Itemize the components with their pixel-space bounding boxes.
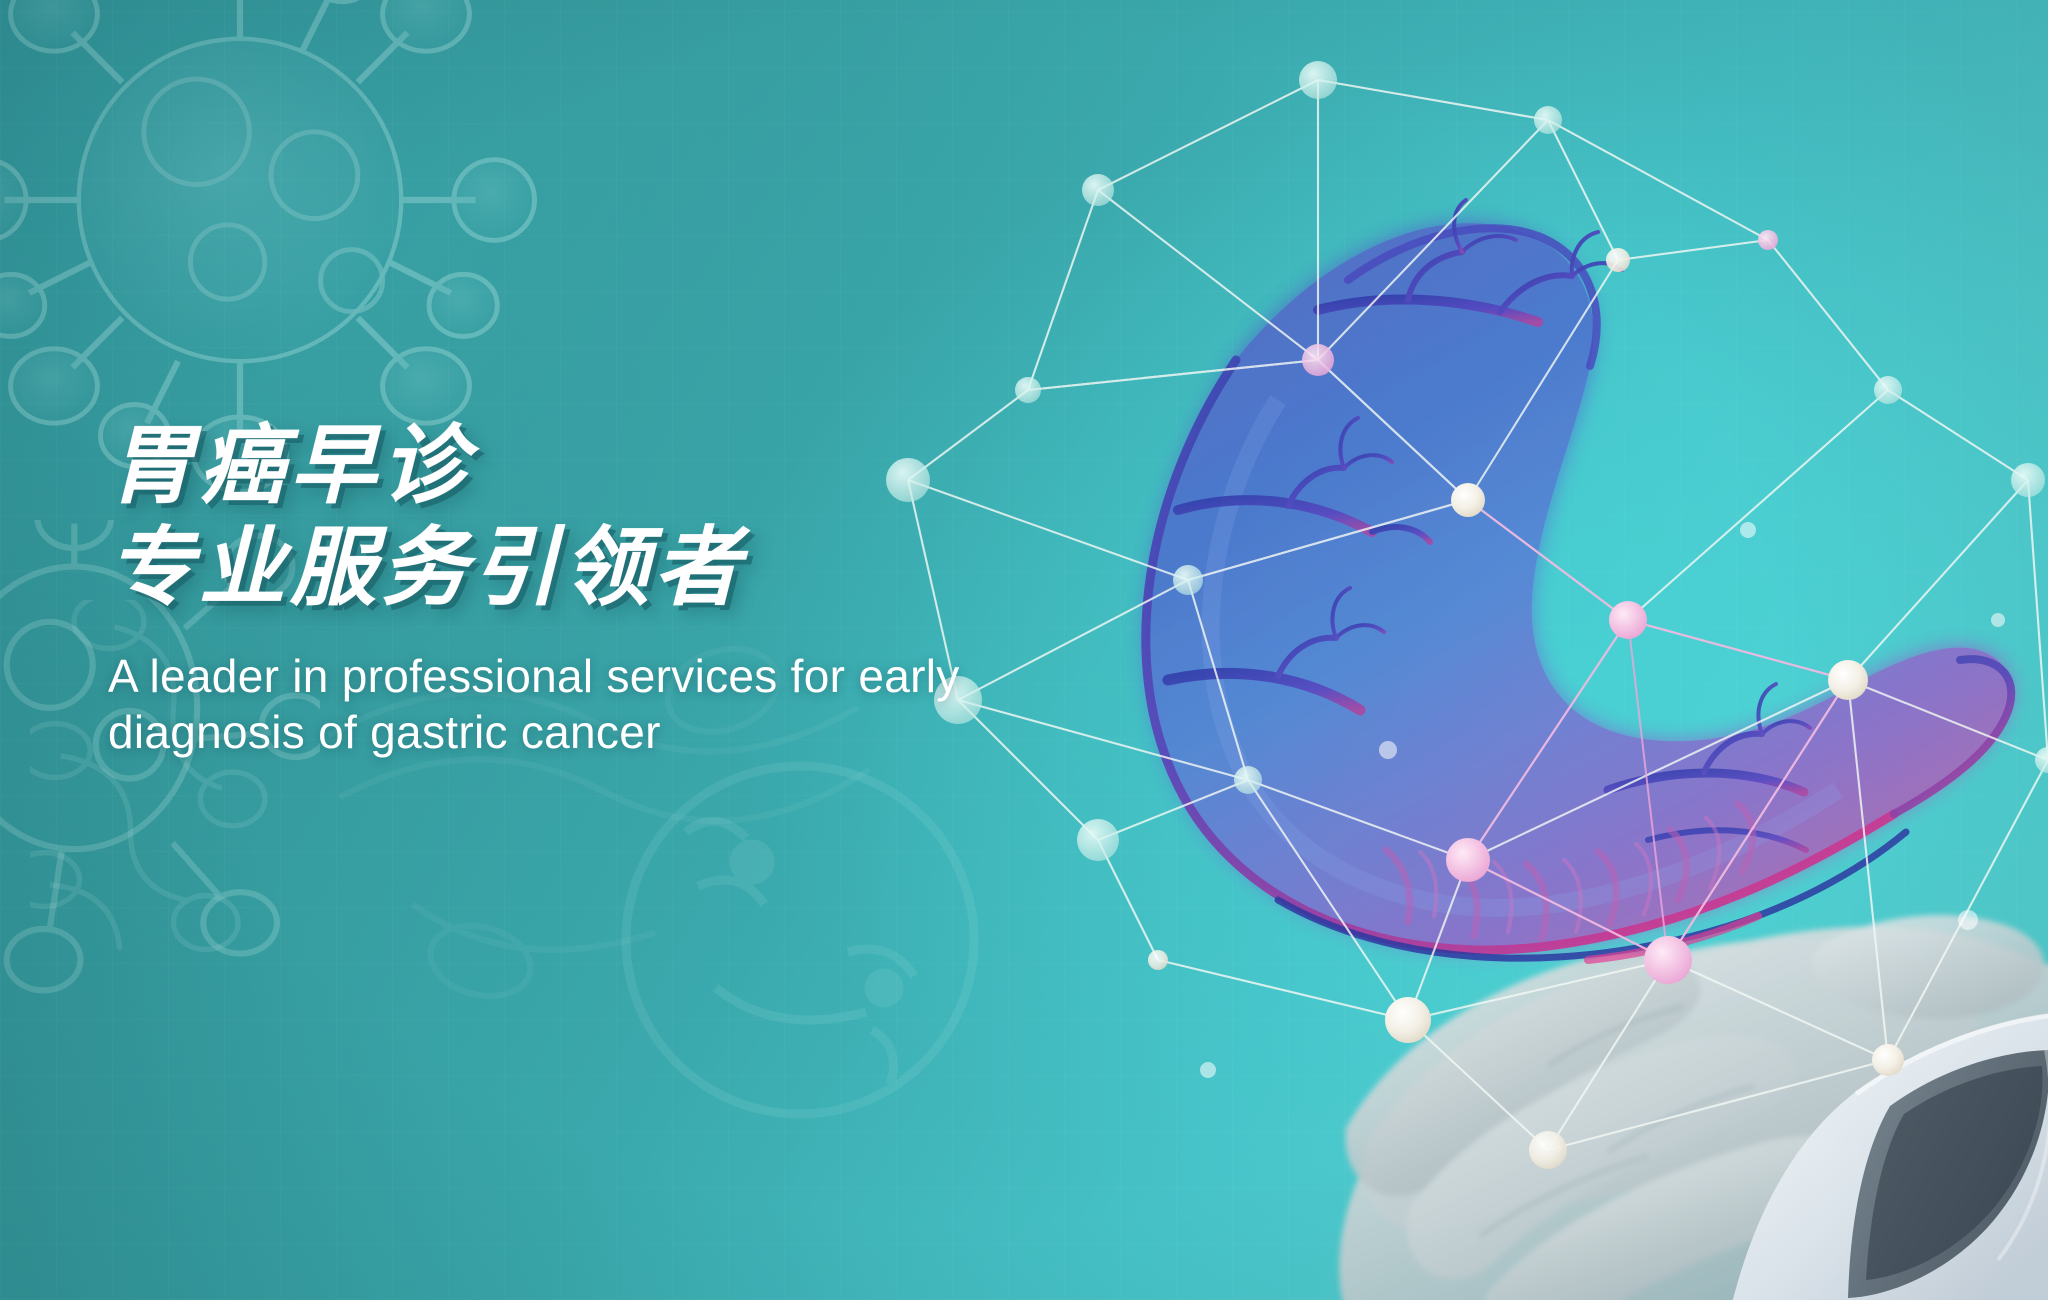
ring-finger-shape [1476, 1136, 1869, 1300]
forearm-shape [1339, 927, 2048, 1300]
index-finger-shape [1346, 952, 1701, 1196]
thumb-shape [1813, 915, 2044, 1019]
headline-line-1: 胃癌早诊 [108, 420, 1228, 512]
lab-coat-sleeve-cuff [1728, 1012, 2048, 1300]
subtitle: A leader in professional services for ea… [108, 648, 1118, 760]
subtitle-line-2: diagnosis of gastric cancer [108, 704, 1118, 760]
middle-finger-shape [1406, 1036, 1796, 1279]
subtitle-line-1: A leader in professional services for ea… [108, 648, 1118, 704]
headline-line-2: 专业服务引领者 [108, 522, 1228, 614]
hero-banner: 胃癌早诊 专业服务引领者 A leader in professional se… [0, 0, 2048, 1300]
virus-particle-icon [560, 700, 1040, 1180]
hero-text-block: 胃癌早诊 专业服务引领者 A leader in professional se… [108, 420, 1228, 760]
page-title: 胃癌早诊 专业服务引领者 [108, 420, 1228, 614]
palm-shape [1363, 939, 1978, 1232]
